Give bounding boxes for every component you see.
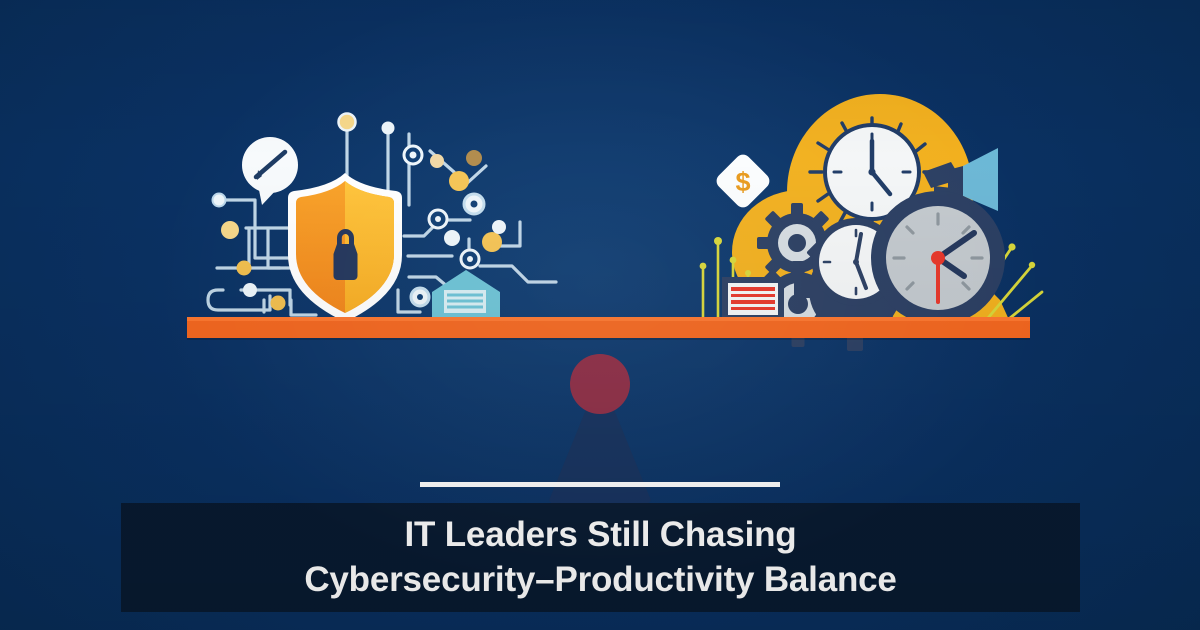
- page-title-line-2: Cybersecurity–Productivity Balance: [304, 558, 896, 603]
- banner-graphic: $: [0, 0, 1200, 630]
- chart-document-icon: [722, 277, 784, 321]
- seesaw-fulcrum-pivot: [570, 354, 630, 414]
- seesaw-beam-highlight: [187, 317, 1030, 321]
- svg-text:$: $: [735, 167, 750, 197]
- page-title: IT Leaders Still Chasing Cybersecurity–P…: [121, 503, 1080, 612]
- page-title-line-1: IT Leaders Still Chasing: [405, 513, 797, 558]
- title-rule: [420, 482, 780, 487]
